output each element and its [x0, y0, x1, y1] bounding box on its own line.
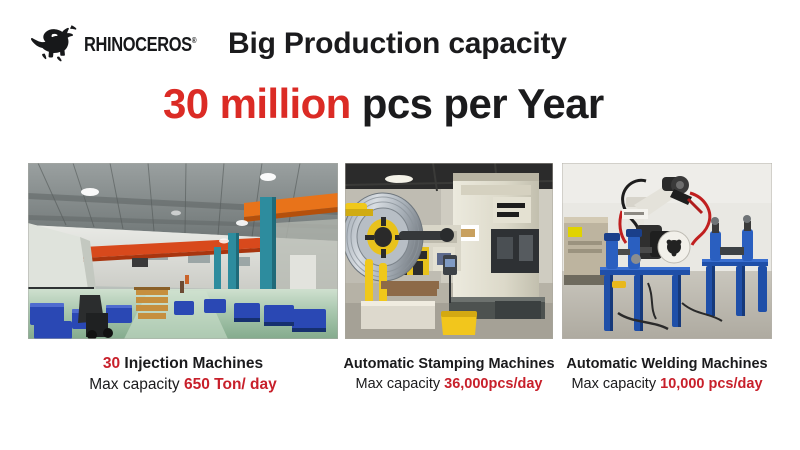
- headline: 30 million pcs per Year: [163, 80, 604, 128]
- photo-gallery: [0, 163, 800, 339]
- caption-stamping: Automatic Stamping Machines Max capacity…: [341, 355, 557, 393]
- automatic-welding-robot-photo: [562, 163, 772, 339]
- caption-injection-capacity-value: 650 Ton/ day: [184, 376, 277, 393]
- caption-welding: Automatic Welding Machines Max capacity …: [560, 355, 774, 393]
- page-title: Big Production capacity: [228, 27, 567, 61]
- brand-wordmark-text: RHINOCEROS: [84, 32, 192, 56]
- caption-welding-capacity-value: 10,000 pcs/day: [660, 376, 762, 392]
- caption-stamping-capacity-prefix: Max capacity: [355, 376, 444, 392]
- headline-highlight: 30 million: [163, 80, 351, 127]
- caption-welding-title: Automatic Welding Machines: [560, 355, 774, 374]
- caption-injection-title: 30 Injection Machines: [28, 354, 338, 374]
- caption-stamping-capacity-value: 36,000pcs/day: [444, 376, 542, 392]
- caption-stamping-title-text: Automatic Stamping Machines: [343, 356, 554, 372]
- headline-rest: pcs per Year: [351, 80, 604, 127]
- caption-injection-capacity: Max capacity 650 Ton/ day: [28, 375, 338, 395]
- caption-welding-capacity: Max capacity 10,000 pcs/day: [560, 375, 774, 394]
- automatic-stamping-machine-photo: [345, 163, 553, 339]
- rhinoceros-logo-icon: [28, 23, 86, 63]
- caption-stamping-capacity: Max capacity 36,000pcs/day: [341, 375, 557, 394]
- brand-wordmark: RHINOCEROS®: [84, 32, 197, 57]
- caption-welding-title-text: Automatic Welding Machines: [566, 356, 767, 372]
- injection-molding-factory-photo: [28, 163, 338, 339]
- caption-welding-capacity-prefix: Max capacity: [571, 376, 660, 392]
- caption-injection-capacity-prefix: Max capacity: [89, 376, 184, 393]
- caption-injection-count: 30: [103, 355, 120, 372]
- brand-logo: RHINOCEROS®: [28, 22, 203, 64]
- caption-injection: 30 Injection Machines Max capacity 650 T…: [28, 354, 338, 395]
- caption-injection-title-text: Injection Machines: [120, 355, 263, 372]
- registered-mark: ®: [192, 37, 197, 45]
- header-banner: RHINOCEROS® Big Production capacity 30 m…: [0, 0, 800, 148]
- caption-stamping-title: Automatic Stamping Machines: [341, 355, 557, 374]
